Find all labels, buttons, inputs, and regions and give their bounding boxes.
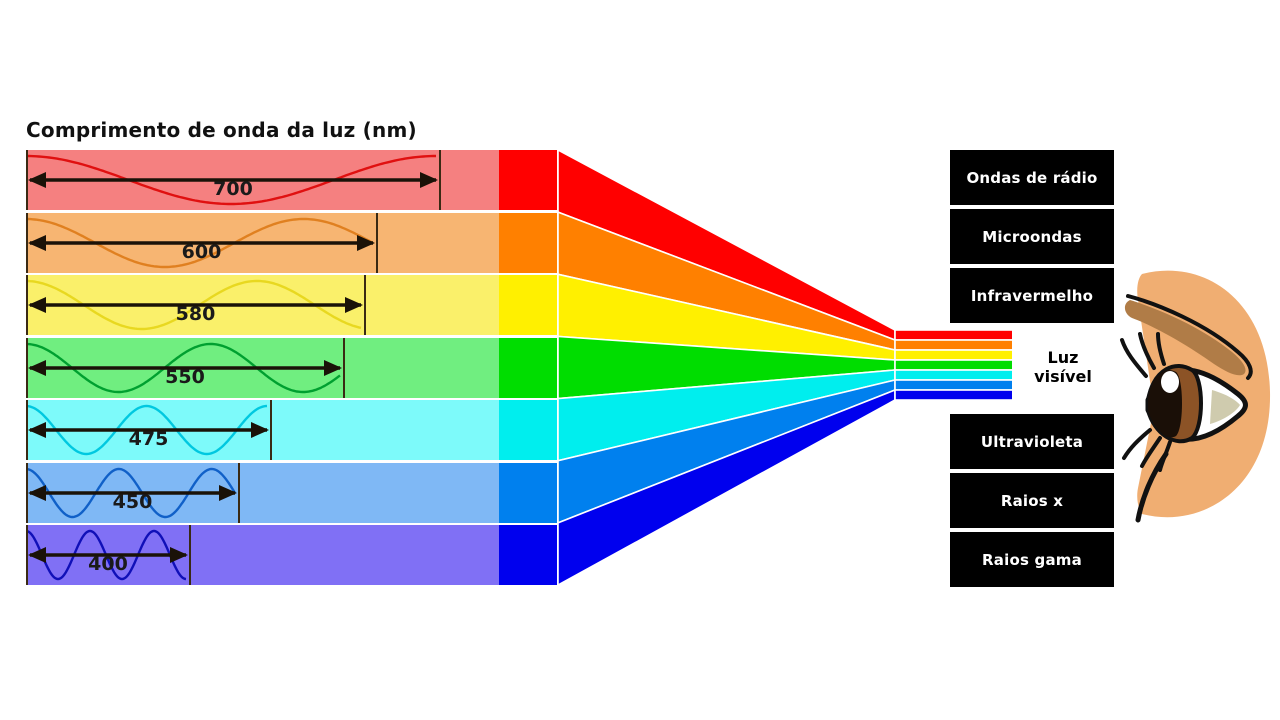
wavelength-bar: 400: [26, 525, 499, 585]
em-label-microondas[interactable]: Microondas: [950, 209, 1114, 264]
visible-light-strip: [895, 390, 1015, 400]
eye-icon: [1108, 248, 1278, 538]
converging-light-beam: [558, 144, 1018, 594]
eye-illustration: [1108, 248, 1278, 538]
em-label-ultravioleta[interactable]: Ultravioleta: [950, 414, 1114, 469]
saturated-color-band: [499, 150, 557, 210]
saturated-color-band: [499, 463, 557, 523]
wavelength-bar: 700: [26, 150, 499, 210]
wavelength-bar: 550: [26, 338, 499, 398]
saturated-color-band: [499, 275, 557, 335]
visible-light-strip: [895, 370, 1015, 380]
em-label-infravermelho[interactable]: Infravermelho: [950, 268, 1114, 323]
wavelength-bar: 580: [26, 275, 499, 335]
visible-light-strip: [895, 330, 1015, 340]
wave-and-measure: [26, 338, 499, 398]
em-label-luz-visivel[interactable]: Luzvisível: [1012, 327, 1114, 407]
saturated-color-band: [499, 338, 557, 398]
visible-light-strip: [895, 380, 1015, 390]
em-label-raios-x[interactable]: Raios x: [950, 473, 1114, 528]
em-label-raios-gama[interactable]: Raios gama: [950, 532, 1114, 587]
wave-and-measure: [26, 275, 499, 335]
wave-and-measure: [26, 150, 499, 210]
saturated-color-band: [499, 525, 557, 585]
spectrum-diagram: Comprimento de onda da luz (nm) 70060058…: [0, 0, 1280, 720]
saturated-color-band: [499, 213, 557, 273]
wavelength-bar: 600: [26, 213, 499, 273]
wavelength-bars: 700600580550475450400: [26, 150, 499, 585]
saturated-color-band: [499, 400, 557, 460]
wave-and-measure: [26, 525, 499, 585]
em-label-ondas-de-radio[interactable]: Ondas de rádio: [950, 150, 1114, 205]
wave-and-measure: [26, 463, 499, 523]
page-title: Comprimento de onda da luz (nm): [26, 118, 417, 142]
visible-light-strip: [895, 350, 1015, 360]
wavelength-bar: 450: [26, 463, 499, 523]
luz-visivel-text: Luzvisível: [1034, 348, 1092, 386]
wavelength-bar: 475: [26, 400, 499, 460]
saturated-color-column: [499, 150, 557, 585]
wave-and-measure: [26, 400, 499, 460]
wave-and-measure: [26, 213, 499, 273]
visible-light-strip: [895, 360, 1015, 370]
beam-svg: [558, 144, 1018, 594]
visible-light-strip: [895, 340, 1015, 350]
